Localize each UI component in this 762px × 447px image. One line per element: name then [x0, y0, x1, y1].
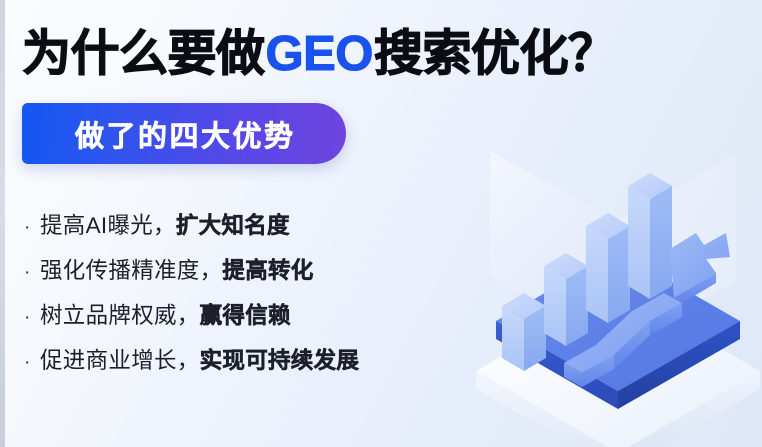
- left-edge-strip: [0, 0, 5, 447]
- growth-chart-illustration: [468, 141, 762, 447]
- bullet-dot-icon: ·: [24, 308, 40, 327]
- bar-3: [586, 213, 630, 323]
- bullet-dot-icon: ·: [24, 218, 40, 237]
- list-item-text: 提高AI曝光，扩大知名度: [40, 208, 290, 240]
- list-item: · 提高AI曝光，扩大知名度: [24, 208, 484, 253]
- list-item: · 促进商业增长，实现可持续发展: [24, 343, 484, 388]
- list-item-text: 促进商业增长，实现可持续发展: [40, 343, 359, 375]
- list-item-emphasis: 赢得信赖: [200, 303, 291, 328]
- page-title: 为什么要做GEO搜索优化？: [22, 23, 616, 85]
- bullet-dot-icon: ·: [24, 263, 40, 282]
- list-item-lead: 提高AI曝光，: [40, 213, 176, 238]
- advantages-list: · 提高AI曝光，扩大知名度 · 强化传播精准度，提高转化 · 树立品牌权威，赢…: [24, 208, 484, 388]
- title-accent-geo: GEO: [265, 27, 374, 81]
- title-part-1: 为什么要做: [22, 27, 265, 81]
- subtitle-badge: 做了的四大优势: [22, 103, 346, 164]
- list-item-lead: 强化传播精准度，: [40, 258, 222, 283]
- list-item-emphasis: 实现可持续发展: [200, 348, 360, 373]
- list-item-lead: 促进商业增长，: [40, 348, 200, 373]
- list-item: · 树立品牌权威，赢得信赖: [24, 298, 484, 343]
- bar-1: [502, 293, 546, 371]
- list-item-lead: 树立品牌权威，: [40, 303, 200, 328]
- list-item-emphasis: 扩大知名度: [176, 213, 290, 238]
- list-item: · 强化传播精准度，提高转化: [24, 253, 484, 298]
- bar-2: [544, 253, 588, 346]
- list-item-emphasis: 提高转化: [222, 258, 313, 283]
- bullet-dot-icon: ·: [24, 353, 40, 372]
- title-part-2: 搜索优化？: [374, 27, 617, 81]
- subtitle-badge-label: 做了的四大优势: [72, 113, 295, 155]
- bar-4: [628, 173, 672, 299]
- poster-canvas: 为什么要做GEO搜索优化？ 做了的四大优势 · 提高AI曝光，扩大知名度 · 强…: [0, 0, 762, 447]
- list-item-text: 强化传播精准度，提高转化: [40, 253, 314, 285]
- list-item-text: 树立品牌权威，赢得信赖: [40, 298, 291, 330]
